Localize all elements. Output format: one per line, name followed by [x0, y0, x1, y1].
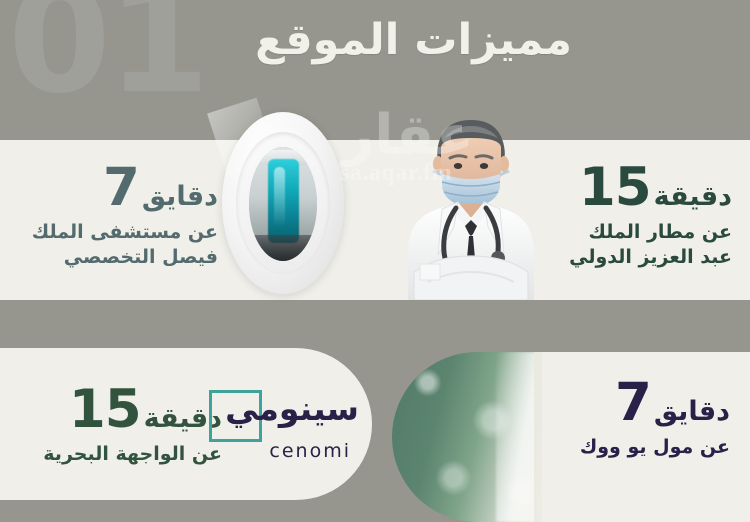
feature-beach: دقيقة 15 عن الواجهة البحرية [22, 385, 222, 467]
step-number-watermark: 01 [8, 0, 206, 114]
feature-mall-headline: دقايق 7 [538, 378, 730, 428]
feature-airport-description: عن مطار الملك عبد العزيز الدولي [532, 220, 732, 270]
doctor-photo [398, 104, 544, 300]
feature-beach-headline: دقيقة 15 [22, 385, 222, 435]
aquarium-column [268, 159, 299, 243]
feature-hospital-number: 7 [103, 163, 139, 213]
feature-airport-unit: دقيقة [654, 183, 732, 210]
slide-header: 01 مميزات الموقع [0, 0, 750, 140]
cenomi-logo: سينومي cenomi [209, 392, 359, 478]
feature-hospital-headline: دقايق 7 [18, 163, 218, 213]
feature-airport: دقيقة 15 عن مطار الملك عبد العزيز الدولي [532, 163, 732, 271]
feature-airport-number: 15 [579, 163, 651, 213]
doctor-illustration [398, 104, 544, 300]
feature-beach-description: عن الواجهة البحرية [22, 442, 222, 467]
feature-mall-unit: دقايق [654, 398, 730, 425]
infographic-slide: 01 مميزات الموقع [0, 0, 750, 522]
feature-mall: دقايق 7 عن مول يو ووك [538, 378, 730, 460]
feature-hospital-unit: دقايق [142, 183, 218, 210]
airplane-window-photo [222, 112, 344, 294]
feature-mall-description: عن مول يو ووك [538, 435, 730, 460]
feature-airport-headline: دقيقة 15 [532, 163, 732, 213]
page-title: مميزات الموقع [255, 14, 572, 68]
feature-beach-number: 15 [69, 385, 141, 435]
feature-hospital: دقايق 7 عن مستشفى الملك فيصل التخصصي [18, 163, 218, 271]
feature-hospital-description: عن مستشفى الملك فيصل التخصصي [18, 220, 218, 270]
cenomi-latin-wordmark: cenomi [269, 440, 351, 462]
terminal-floor [249, 235, 317, 261]
feature-mall-number: 7 [615, 378, 651, 428]
band-divider [0, 300, 750, 348]
cenomi-arabic-wordmark: سينومي [225, 392, 359, 425]
